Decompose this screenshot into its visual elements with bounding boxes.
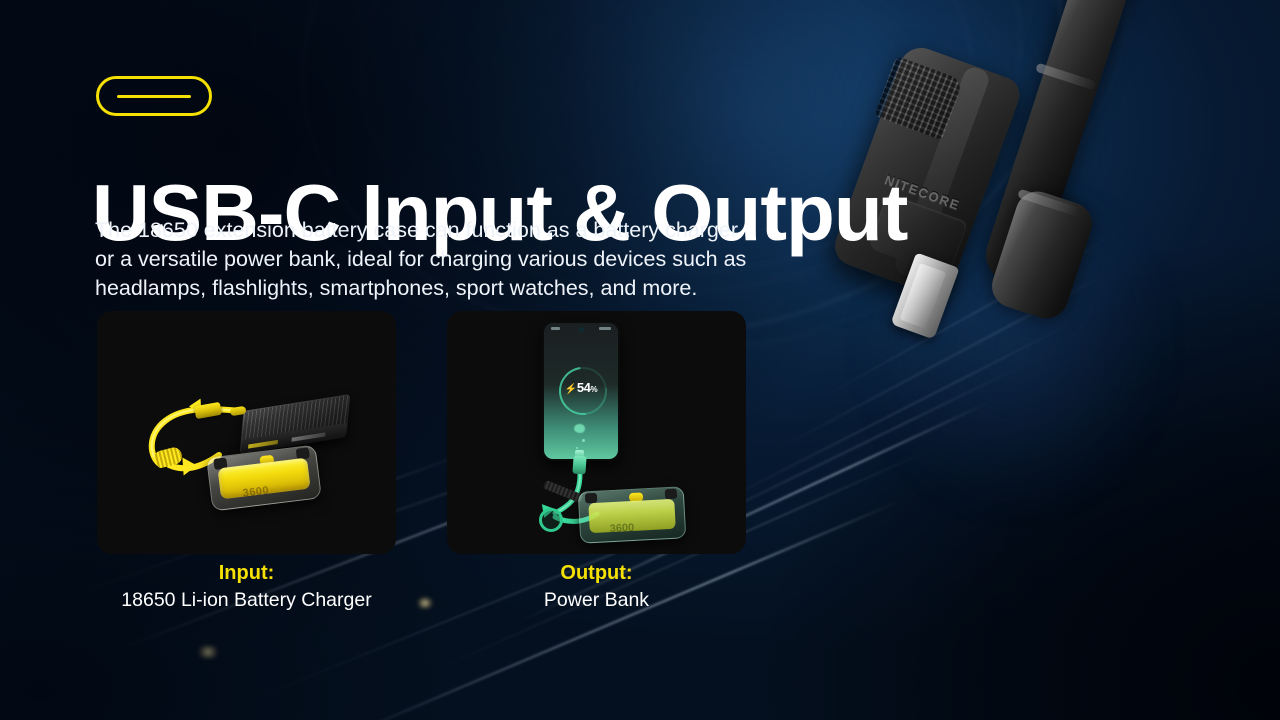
body-line: The 18650 extension battery case can fun… [95, 216, 885, 245]
caption-input-lead: Input: [97, 560, 396, 586]
card-output-image: ⚡54% 3600 [447, 311, 746, 554]
caption-input-sub: 18650 Li-ion Battery Charger [97, 587, 396, 613]
flow-arrow-icon [182, 457, 197, 476]
body-line: or a versatile power bank, ideal for cha… [95, 245, 885, 274]
caption-output-sub: Power Bank [447, 587, 746, 613]
18650-battery-cell: 3600 [218, 458, 311, 500]
usb-c-port-icon [96, 76, 212, 116]
battery-capacity-label: 3600 [609, 522, 634, 535]
usb-c-plug [572, 456, 586, 475]
body-description: The 18650 extension battery case can fun… [95, 216, 885, 303]
battery-case-translucent: 3600 [578, 486, 687, 543]
power-bank-device [240, 394, 350, 454]
promo-slide: NITECORE USB-C Input & Output The 18650 … [0, 0, 1280, 720]
card-input-image: 3600 [97, 311, 396, 554]
battery-case-clip [585, 493, 598, 504]
caption-output: Output: Power Bank [447, 560, 746, 613]
caption-input: Input: 18650 Li-ion Battery Charger [97, 560, 396, 613]
battery-case-clip [665, 489, 678, 500]
cable-loop-ring [539, 508, 563, 532]
caption-output-lead: Output: [447, 560, 746, 586]
usb-c-port-icon-bar [117, 95, 191, 98]
18650-battery-cell: 3600 [588, 499, 675, 533]
battery-capacity-label: 3600 [242, 485, 270, 500]
content-layer: USB-C Input & Output The 18650 extension… [0, 0, 1280, 720]
body-line: headlamps, flashlights, smartphones, spo… [95, 274, 885, 303]
